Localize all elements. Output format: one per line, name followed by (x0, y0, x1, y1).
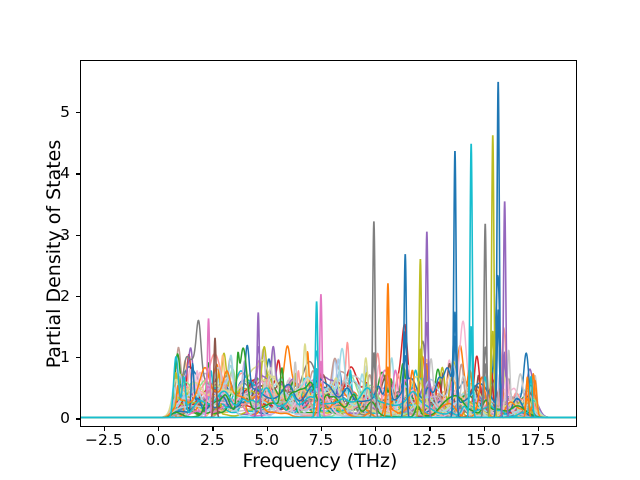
y-tick-mark (76, 296, 80, 297)
pdos-figure: −2.50.02.55.07.510.012.515.017.5 012345 … (0, 0, 640, 480)
y-tick-mark (76, 418, 80, 419)
x-tick-label: 15.0 (466, 431, 501, 449)
y-tick-mark (76, 112, 80, 113)
y-axis-label: Partial Density of States (43, 104, 65, 404)
x-tick-label: 12.5 (412, 431, 447, 449)
x-axis-label: Frequency (THz) (0, 450, 640, 472)
y-tick-mark (76, 235, 80, 236)
y-tick-mark (76, 357, 80, 358)
x-tick-label: 10.0 (358, 431, 393, 449)
x-tick-label: 2.5 (200, 431, 225, 449)
y-tick-label: 0 (60, 409, 70, 427)
plot-area (80, 60, 577, 427)
x-tick-label: 17.5 (521, 431, 556, 449)
x-tick-label: 0.0 (146, 431, 171, 449)
x-tick-label: 7.5 (309, 431, 334, 449)
x-tick-label: 5.0 (254, 431, 279, 449)
pdos-curves (81, 61, 576, 426)
y-tick-mark (76, 173, 80, 174)
x-tick-label: −2.5 (85, 431, 123, 449)
